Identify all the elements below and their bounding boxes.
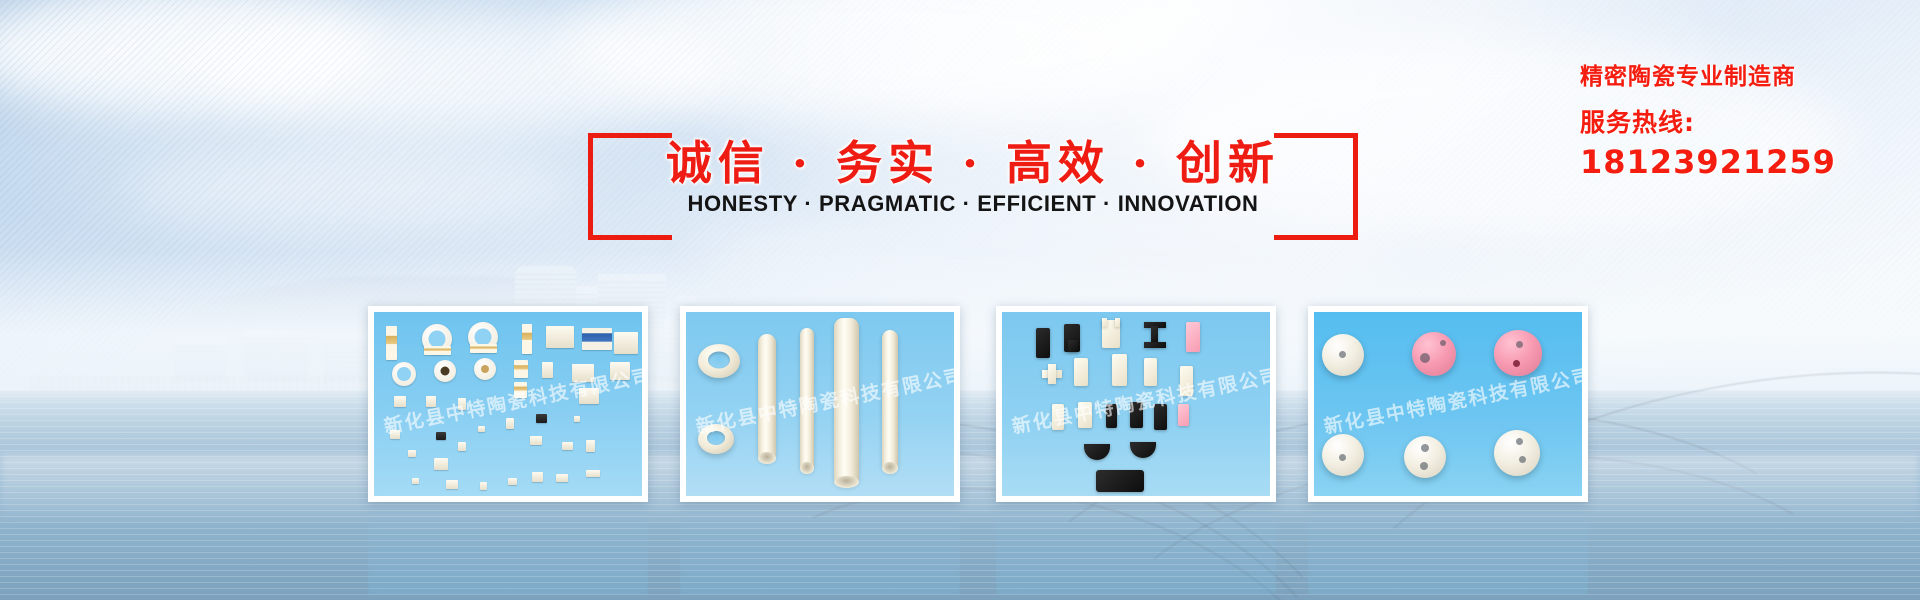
- part: [614, 332, 638, 354]
- part: [1178, 404, 1189, 426]
- hotline-label: 服务热线:: [1580, 106, 1900, 140]
- part: [514, 382, 527, 398]
- part-tube: [800, 328, 814, 472]
- part: [586, 470, 600, 477]
- part: [1130, 402, 1143, 428]
- part: [506, 418, 514, 429]
- part: [1115, 318, 1120, 327]
- part: [424, 346, 451, 355]
- bracket-bottom-left-horizontal: [588, 235, 672, 240]
- part: [532, 472, 543, 482]
- part: [458, 398, 466, 410]
- part: [508, 478, 517, 485]
- part: [434, 360, 456, 382]
- slogan-block: 诚信 · 务实 · 高效 · 创新 HONESTY · PRAGMATIC · …: [588, 133, 1358, 245]
- part: [562, 442, 573, 450]
- part: [394, 396, 406, 407]
- slogan-chinese: 诚信 · 务实 · 高效 · 创新: [588, 127, 1358, 193]
- part: [522, 324, 532, 354]
- contact-block: 精密陶瓷专业制造商 服务热线: 18123921259: [1580, 62, 1900, 182]
- part: [1048, 364, 1056, 384]
- product-panel-ceramic-tubes[interactable]: 新化县中特陶瓷科技有限公司: [680, 306, 960, 502]
- part: [446, 480, 458, 489]
- part: [408, 450, 416, 457]
- part: [434, 458, 448, 470]
- hotline-number[interactable]: 18123921259: [1580, 142, 1900, 182]
- part: [610, 362, 630, 380]
- part: [579, 388, 599, 404]
- part: [1186, 322, 1200, 352]
- part: [436, 432, 446, 440]
- wet-surface-sheen: [0, 455, 1920, 525]
- part: [1180, 366, 1193, 396]
- part-disc: [1404, 436, 1446, 478]
- part-disc: [1322, 434, 1364, 476]
- part: [386, 326, 397, 360]
- company-tagline: 精密陶瓷专业制造商: [1580, 62, 1900, 92]
- part: [1102, 318, 1107, 327]
- part-ring: [698, 424, 734, 454]
- part: [514, 360, 528, 378]
- part: [1144, 358, 1157, 386]
- part-block: [1096, 470, 1144, 492]
- part-ring: [698, 344, 740, 378]
- part: [412, 478, 419, 484]
- slogan-english: HONESTY · PRAGMATIC · EFFICIENT · INNOVA…: [588, 191, 1358, 217]
- part: [586, 440, 595, 452]
- part: [542, 362, 553, 378]
- part-disc: [1494, 430, 1540, 476]
- hero-banner: 诚信 · 务实 · 高效 · 创新 HONESTY · PRAGMATIC · …: [0, 0, 1920, 600]
- part: [458, 442, 466, 451]
- panel-image: 新化县中特陶瓷科技有限公司: [686, 312, 954, 496]
- part: [478, 426, 485, 432]
- product-panel-ceramic-discs[interactable]: 新化县中特陶瓷科技有限公司: [1308, 306, 1588, 502]
- panel-image: 新化县中特陶瓷科技有限公司: [1314, 312, 1582, 496]
- part-tube: [882, 330, 898, 472]
- part: [536, 414, 547, 423]
- product-panel-smd-components[interactable]: 新化县中特陶瓷科技有限公司: [368, 306, 648, 502]
- panel-image: 新化县中特陶瓷科技有限公司: [1002, 312, 1270, 496]
- part: [480, 482, 487, 490]
- part: [1036, 328, 1050, 358]
- part: [1106, 404, 1117, 428]
- panel-image: 新化县中特陶瓷科技有限公司: [374, 312, 642, 496]
- panel-reflection: [680, 503, 960, 595]
- bracket-bottom-right-horizontal: [1274, 235, 1358, 240]
- part: [546, 326, 574, 348]
- part: [1078, 402, 1092, 428]
- part: [1112, 354, 1127, 386]
- part-tube: [758, 334, 776, 462]
- part-tube: [834, 318, 859, 486]
- part: [392, 362, 416, 386]
- part: [474, 358, 496, 380]
- part: [1074, 358, 1088, 386]
- part: [556, 474, 568, 482]
- part: [1144, 342, 1166, 348]
- panel-reflection: [1308, 503, 1588, 595]
- part: [426, 396, 436, 407]
- part-disc: [1412, 332, 1456, 376]
- part: [530, 436, 542, 445]
- part: [470, 344, 497, 353]
- part: [572, 364, 594, 382]
- product-panel-ceramic-blocks[interactable]: 新化县中特陶瓷科技有限公司: [996, 306, 1276, 502]
- part: [390, 430, 400, 439]
- panel-reflection: [368, 503, 648, 595]
- panel-reflection: [996, 503, 1276, 595]
- part-blade: [1130, 442, 1156, 458]
- part-disc: [1322, 334, 1364, 376]
- part: [1068, 340, 1078, 352]
- part: [582, 328, 612, 350]
- atmospheric-haze: [0, 250, 1920, 400]
- part-disc: [1494, 330, 1542, 376]
- part-blade: [1084, 444, 1110, 460]
- part: [574, 416, 580, 422]
- part: [1052, 404, 1064, 430]
- part: [1154, 404, 1167, 430]
